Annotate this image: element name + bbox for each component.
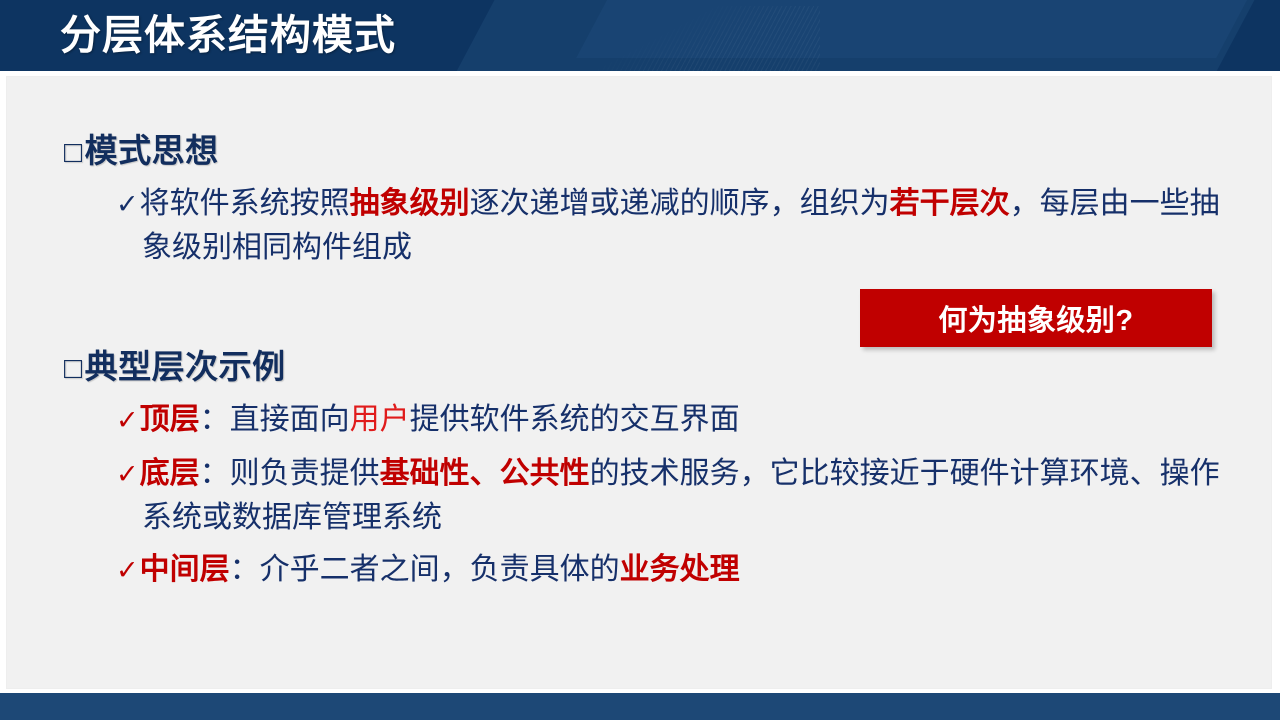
- run-text: ：介乎二者之间，负责具体的: [230, 553, 620, 586]
- square-bullet-icon: □: [64, 136, 83, 169]
- run-text: 将软件系统按照: [140, 187, 350, 220]
- section-heading-typical-layers: □典型层次示例: [64, 340, 286, 388]
- slide-header: 分层体系结构模式: [0, 0, 1280, 71]
- run-text-emphasis: 抽象级别: [350, 187, 470, 220]
- content-panel: □模式思想 ✓将软件系统按照抽象级别逐次递增或递减的顺序，组织为若干层次，每层由…: [6, 76, 1272, 689]
- run-text-emphasis: 若干层次: [890, 187, 1010, 220]
- slide-footer-bar: [0, 693, 1280, 720]
- slide: 分层体系结构模式 □模式思想 ✓将软件系统按照抽象级别逐次递增或递减的顺序，组织…: [0, 0, 1280, 720]
- slide-title: 分层体系结构模式: [60, 8, 396, 62]
- run-text-emphasis: 底层: [140, 457, 200, 490]
- run-text-emphasis: 业务处理: [620, 553, 740, 586]
- section-heading-label: 模式思想: [85, 132, 219, 169]
- checkmark-icon: ✓: [116, 189, 139, 219]
- checkmark-icon: ✓: [116, 555, 139, 585]
- square-bullet-icon: □: [64, 352, 83, 385]
- checkmark-icon: ✓: [116, 459, 139, 489]
- run-text: 逐次递增或递减的顺序，组织为: [470, 187, 890, 220]
- run-text: 提供软件系统的交互界面: [410, 403, 740, 436]
- checkmark-icon: ✓: [116, 405, 139, 435]
- section-heading-pattern-idea: □模式思想: [64, 124, 219, 172]
- bullet-item-pattern-idea: ✓将软件系统按照抽象级别逐次递增或递减的顺序，组织为若干层次，每层由一些抽象级别…: [116, 182, 1224, 269]
- bullet-item-middle-layer: ✓中间层：介乎二者之间，负责具体的业务处理: [116, 548, 1224, 592]
- callout-label: 何为抽象级别?: [938, 297, 1133, 339]
- bullet-item-top-layer: ✓顶层：直接面向用户提供软件系统的交互界面: [116, 398, 1226, 442]
- run-text-emphasis: 基础性、公共性: [380, 457, 590, 490]
- run-text-emphasis: 中间层: [140, 553, 230, 586]
- run-text: ：直接面向: [200, 403, 350, 436]
- run-text-emphasis: 用户: [350, 403, 410, 436]
- header-hatch-texture: [560, 6, 820, 71]
- run-text: ：则负责提供: [200, 457, 380, 490]
- bullet-item-bottom-layer: ✓底层：则负责提供基础性、公共性的技术服务，它比较接近于硬件计算环境、操作系统或…: [116, 452, 1224, 539]
- section-heading-label: 典型层次示例: [85, 348, 286, 385]
- callout-box-question: 何为抽象级别?: [860, 289, 1212, 347]
- run-text-emphasis: 顶层: [140, 403, 200, 436]
